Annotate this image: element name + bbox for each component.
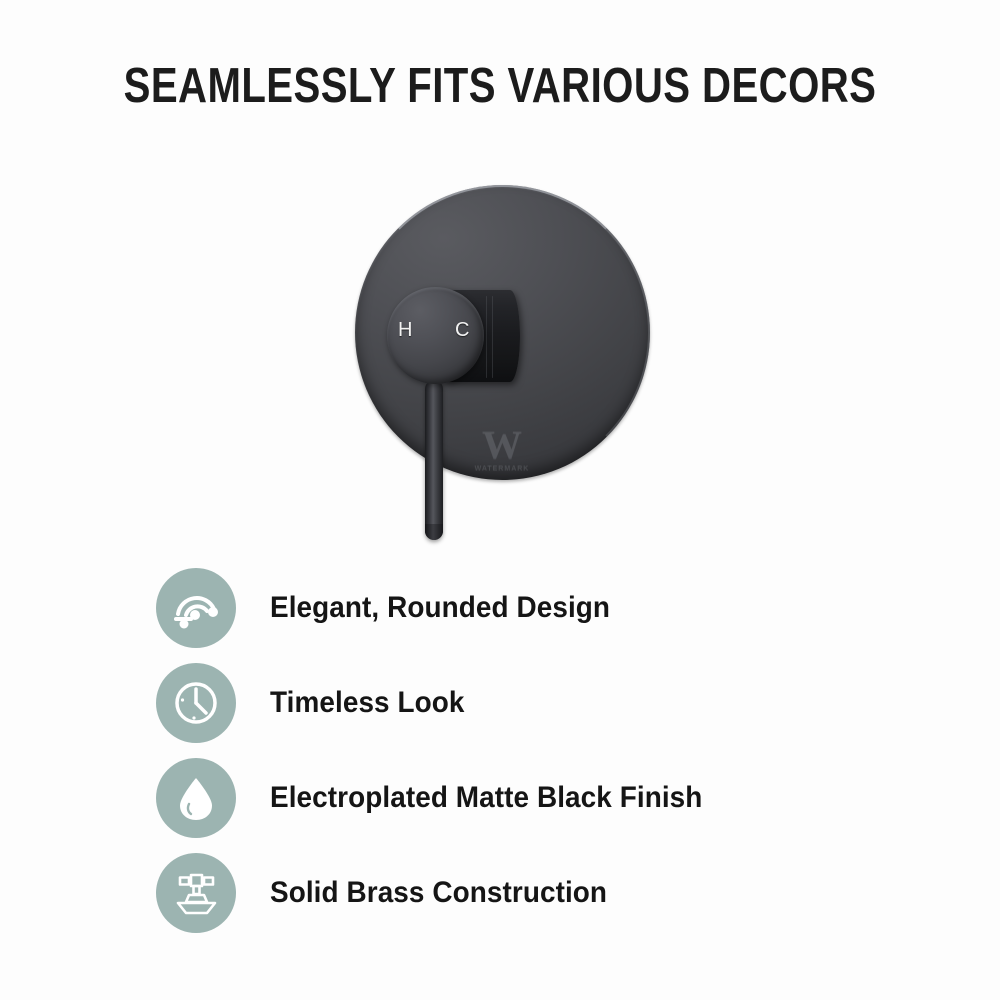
watermark-letter: W — [482, 422, 522, 467]
mixer-lever-handle — [425, 380, 443, 540]
mixer-lever-tip — [425, 524, 443, 540]
knob-seam-line — [492, 296, 493, 378]
list-item: Solid Brass Construction — [0, 845, 1000, 940]
feature-label: Electroplated Matte Black Finish — [270, 781, 702, 815]
product-image: W WATERMARK H C — [0, 150, 1000, 560]
feature-label: Solid Brass Construction — [270, 876, 607, 910]
watermark-logo: W WATERMARK — [466, 425, 538, 483]
cold-indicator-label: C — [455, 320, 469, 340]
rounded-arcs-icon — [156, 568, 236, 648]
tap-basin-icon — [156, 853, 236, 933]
watermark-sublabel: WATERMARK — [466, 465, 538, 473]
water-droplet-icon — [156, 758, 236, 838]
feature-label: Elegant, Rounded Design — [270, 591, 610, 625]
page-title: SEAMLESSLY FITS VARIOUS DECORS — [90, 60, 910, 114]
list-item: Elegant, Rounded Design — [0, 560, 1000, 655]
knob-seam-line — [486, 296, 487, 378]
feature-label: Timeless Look — [270, 686, 465, 720]
hot-indicator-label: H — [398, 320, 412, 340]
clock-icon — [156, 663, 236, 743]
feature-list: Elegant, Rounded Design Timeless Look E — [0, 560, 1000, 940]
list-item: Timeless Look — [0, 655, 1000, 750]
list-item: Electroplated Matte Black Finish — [0, 750, 1000, 845]
